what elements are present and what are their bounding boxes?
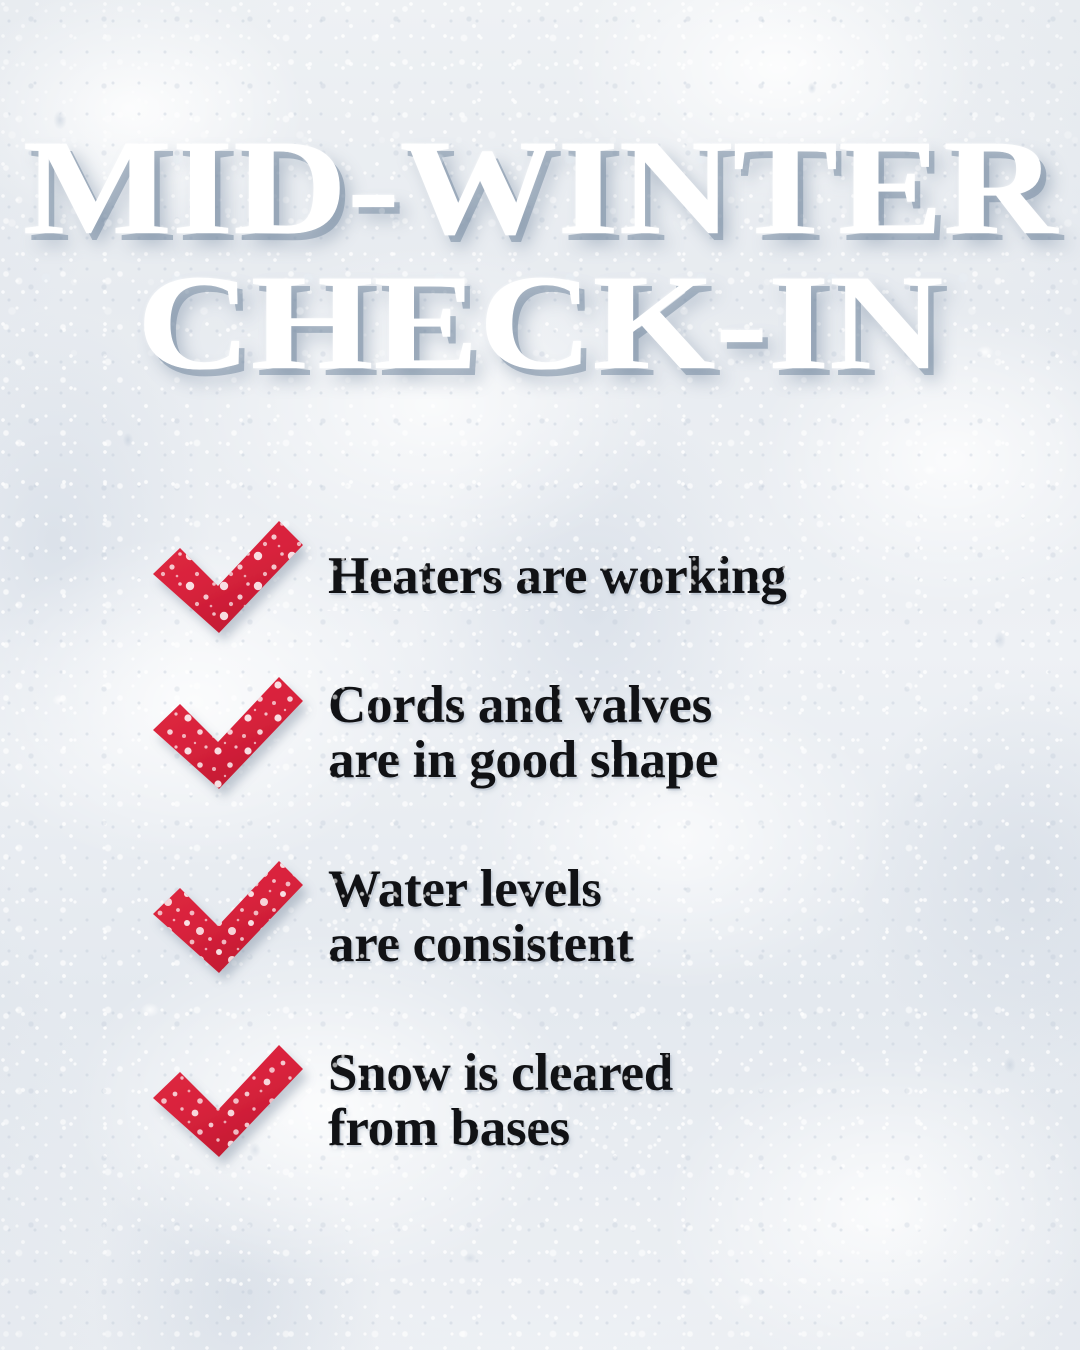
red-checkmark-icon [150,859,306,975]
list-item-line: Cords and valves [328,678,718,733]
list-item-label: Cords and valves are in good shape [328,678,718,788]
list-item-line: Heaters are working [328,549,786,604]
list-item-line: Water levels [328,862,633,917]
red-checkmark-icon [150,675,306,791]
list-item: Cords and valves are in good shape [0,642,1080,824]
list-item: Heaters are working [0,512,1080,642]
list-item: Water levels are consistent [0,824,1080,1010]
checklist: Heaters are working [0,512,1080,1192]
list-item: Snow is cleared from bases [0,1010,1080,1192]
list-item-line: are consistent [328,917,633,972]
list-item-line: from bases [328,1101,673,1156]
headline-line-1: MID-WINTER [0,126,1080,251]
list-item-label: Snow is cleared from bases [328,1046,673,1156]
poster-content: MID-WINTER CHECK-IN [0,0,1080,1350]
list-item-line: are in good shape [328,733,718,788]
page-title: MID-WINTER CHECK-IN [0,126,1080,386]
list-item-label: Heaters are working [328,549,786,604]
list-item-line: Snow is cleared [328,1046,673,1101]
red-checkmark-icon [150,1043,306,1159]
red-checkmark-icon [150,519,306,635]
headline-line-2: CHECK-IN [0,261,1080,386]
winter-checklist-poster: MID-WINTER CHECK-IN [0,0,1080,1350]
list-item-label: Water levels are consistent [328,862,633,972]
